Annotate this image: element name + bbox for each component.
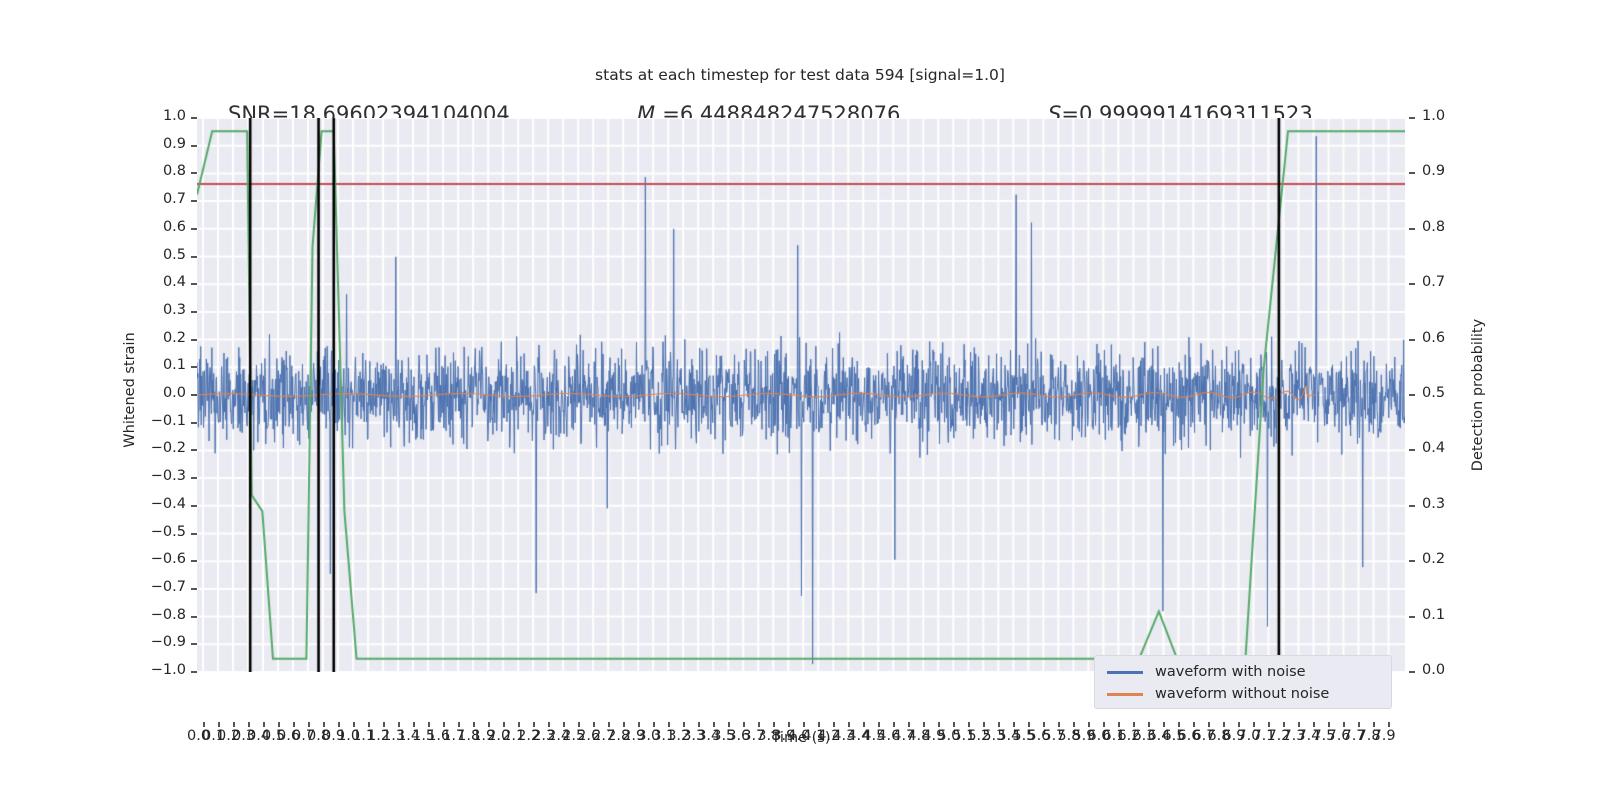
x-tick-mark bbox=[353, 722, 355, 727]
x-tick-mark bbox=[503, 722, 505, 727]
x-tick-mark bbox=[533, 722, 535, 727]
x-tick-mark bbox=[608, 722, 610, 727]
x-tick-mark bbox=[773, 722, 775, 727]
y-tick-left: −0.1 bbox=[128, 413, 186, 429]
y-tick-right: 0.6 bbox=[1422, 330, 1480, 346]
x-tick-mark bbox=[1043, 722, 1045, 727]
y-tick-mark-right bbox=[1409, 117, 1415, 119]
y-tick-left: −0.4 bbox=[128, 496, 186, 512]
x-tick-mark bbox=[1328, 722, 1330, 727]
x-tick-mark bbox=[1343, 722, 1345, 727]
y-tick-right: 1.0 bbox=[1422, 108, 1480, 124]
x-tick-mark bbox=[668, 722, 670, 727]
x-tick-mark bbox=[383, 722, 385, 727]
y-tick-left: −0.2 bbox=[128, 440, 186, 456]
y-tick-mark-left bbox=[191, 200, 197, 202]
y-tick-mark-left bbox=[191, 588, 197, 590]
y-tick-mark-left bbox=[191, 533, 197, 535]
legend-swatch-without-noise bbox=[1107, 693, 1143, 696]
x-tick-mark bbox=[953, 722, 955, 727]
y-tick-right: 0.0 bbox=[1422, 662, 1480, 678]
x-tick-mark bbox=[563, 722, 565, 727]
x-tick-mark bbox=[413, 722, 415, 727]
y-tick-right: 0.9 bbox=[1422, 163, 1480, 179]
y-tick-mark-right bbox=[1409, 505, 1415, 507]
x-tick-label: 7.9 bbox=[1372, 728, 1395, 744]
y-tick-mark-left bbox=[191, 172, 197, 174]
y-tick-right: 0.5 bbox=[1422, 385, 1480, 401]
x-tick-mark bbox=[788, 722, 790, 727]
y-tick-mark-left bbox=[191, 643, 197, 645]
y-tick-mark-left bbox=[191, 422, 197, 424]
y-tick-left: 0.4 bbox=[128, 274, 186, 290]
x-tick-mark bbox=[1388, 722, 1390, 727]
y-tick-mark-left bbox=[191, 366, 197, 368]
x-tick-mark bbox=[1133, 722, 1135, 727]
x-tick-mark bbox=[1163, 722, 1165, 727]
x-tick-mark bbox=[323, 722, 325, 727]
x-tick-mark bbox=[1103, 722, 1105, 727]
x-tick-mark bbox=[683, 722, 685, 727]
x-tick-mark bbox=[443, 722, 445, 727]
x-tick-mark bbox=[923, 722, 925, 727]
x-tick-mark bbox=[713, 722, 715, 727]
y-tick-mark-left bbox=[191, 394, 197, 396]
y-tick-mark-left bbox=[191, 283, 197, 285]
x-tick-mark bbox=[548, 722, 550, 727]
x-tick-mark bbox=[1058, 722, 1060, 727]
y-tick-left: 0.5 bbox=[128, 247, 186, 263]
y-tick-left: 0.2 bbox=[128, 330, 186, 346]
x-tick-mark bbox=[1013, 722, 1015, 727]
y-tick-left: 0.1 bbox=[128, 357, 186, 373]
x-tick-mark bbox=[278, 722, 280, 727]
y-tick-left: 1.0 bbox=[128, 108, 186, 124]
y-tick-mark-right bbox=[1409, 616, 1415, 618]
y-tick-mark-right bbox=[1409, 671, 1415, 673]
x-tick-mark bbox=[1298, 722, 1300, 727]
x-tick-mark bbox=[1358, 722, 1360, 727]
x-tick-mark bbox=[878, 722, 880, 727]
y-tick-mark-left bbox=[191, 477, 197, 479]
y-tick-mark-left bbox=[191, 560, 197, 562]
x-tick-mark bbox=[833, 722, 835, 727]
y-tick-right: 0.1 bbox=[1422, 607, 1480, 623]
y-tick-mark-right bbox=[1409, 283, 1415, 285]
x-tick-mark bbox=[1283, 722, 1285, 727]
x-tick-mark bbox=[428, 722, 430, 727]
x-tick-mark bbox=[473, 722, 475, 727]
y-tick-mark-left bbox=[191, 505, 197, 507]
x-tick-mark bbox=[248, 722, 250, 727]
y-tick-left: −0.3 bbox=[128, 468, 186, 484]
x-tick-mark bbox=[578, 722, 580, 727]
x-tick-mark bbox=[638, 722, 640, 727]
y-tick-mark-left bbox=[191, 117, 197, 119]
x-tick-mark bbox=[488, 722, 490, 727]
x-tick-mark bbox=[293, 722, 295, 727]
x-tick-mark bbox=[803, 722, 805, 727]
figure-canvas: stats at each timestep for test data 594… bbox=[0, 0, 1600, 800]
y-tick-right: 0.3 bbox=[1422, 496, 1480, 512]
y-tick-mark-right bbox=[1409, 339, 1415, 341]
y-tick-mark-right bbox=[1409, 560, 1415, 562]
y-tick-left: 0.0 bbox=[128, 385, 186, 401]
x-tick-mark bbox=[623, 722, 625, 727]
y-tick-mark-left bbox=[191, 616, 197, 618]
x-tick-mark bbox=[653, 722, 655, 727]
y-tick-left: 0.3 bbox=[128, 302, 186, 318]
y-tick-mark-left bbox=[191, 449, 197, 451]
x-tick-mark bbox=[863, 722, 865, 727]
plot-area bbox=[197, 118, 1405, 672]
y-tick-mark-left bbox=[191, 671, 197, 673]
x-tick-mark bbox=[818, 722, 820, 727]
y-tick-mark-right bbox=[1409, 394, 1415, 396]
x-tick-mark bbox=[938, 722, 940, 727]
x-tick-mark bbox=[1223, 722, 1225, 727]
x-tick-mark bbox=[758, 722, 760, 727]
y-tick-mark-left bbox=[191, 339, 197, 341]
x-tick-mark bbox=[743, 722, 745, 727]
x-tick-mark bbox=[1028, 722, 1030, 727]
y-tick-right: 0.7 bbox=[1422, 274, 1480, 290]
x-tick-mark bbox=[983, 722, 985, 727]
y-tick-mark-left bbox=[191, 145, 197, 147]
x-tick-mark bbox=[728, 722, 730, 727]
y-tick-right: 0.8 bbox=[1422, 219, 1480, 235]
page-title: stats at each timestep for test data 594… bbox=[0, 66, 1600, 84]
y-tick-left: −1.0 bbox=[128, 662, 186, 678]
x-tick-mark bbox=[908, 722, 910, 727]
x-tick-mark bbox=[1178, 722, 1180, 727]
x-tick-mark bbox=[398, 722, 400, 727]
y-tick-left: −0.5 bbox=[128, 524, 186, 540]
x-tick-mark bbox=[218, 722, 220, 727]
x-tick-mark bbox=[848, 722, 850, 727]
legend-label-without-noise: waveform without noise bbox=[1155, 683, 1329, 705]
waveform-canvas bbox=[197, 118, 1405, 672]
y-tick-left: 0.8 bbox=[128, 163, 186, 179]
x-tick-mark bbox=[968, 722, 970, 727]
x-tick-mark bbox=[1373, 722, 1375, 727]
x-tick-mark bbox=[893, 722, 895, 727]
y-tick-mark-right bbox=[1409, 228, 1415, 230]
y-tick-left: −0.7 bbox=[128, 579, 186, 595]
x-tick-mark bbox=[1268, 722, 1270, 727]
y-tick-left: 0.9 bbox=[128, 136, 186, 152]
legend[interactable]: waveform with noise waveform without noi… bbox=[1094, 655, 1392, 709]
x-tick-mark bbox=[518, 722, 520, 727]
y-tick-left: −0.6 bbox=[128, 551, 186, 567]
x-tick-mark bbox=[1253, 722, 1255, 727]
x-tick-mark bbox=[698, 722, 700, 727]
x-tick-mark bbox=[1193, 722, 1195, 727]
y-tick-left: 0.7 bbox=[128, 191, 186, 207]
x-tick-mark bbox=[998, 722, 1000, 727]
x-tick-mark bbox=[338, 722, 340, 727]
x-tick-mark bbox=[593, 722, 595, 727]
x-tick-mark bbox=[1208, 722, 1210, 727]
x-tick-mark bbox=[368, 722, 370, 727]
x-tick-mark bbox=[1148, 722, 1150, 727]
x-tick-mark bbox=[1238, 722, 1240, 727]
y-tick-right: 0.4 bbox=[1422, 440, 1480, 456]
y-tick-left: −0.8 bbox=[128, 607, 186, 623]
y-tick-mark-left bbox=[191, 311, 197, 313]
x-tick-mark bbox=[1088, 722, 1090, 727]
y-tick-right: 0.2 bbox=[1422, 551, 1480, 567]
x-tick-mark bbox=[308, 722, 310, 727]
y-tick-left: 0.6 bbox=[128, 219, 186, 235]
x-tick-mark bbox=[458, 722, 460, 727]
x-tick-mark bbox=[1118, 722, 1120, 727]
legend-swatch-with-noise bbox=[1107, 671, 1143, 674]
y-tick-left: −0.9 bbox=[128, 634, 186, 650]
x-tick-mark bbox=[1073, 722, 1075, 727]
x-tick-mark bbox=[1313, 722, 1315, 727]
x-tick-mark bbox=[233, 722, 235, 727]
y-tick-mark-left bbox=[191, 228, 197, 230]
y-tick-mark-left bbox=[191, 256, 197, 258]
x-tick-mark bbox=[203, 722, 205, 727]
y-tick-mark-right bbox=[1409, 449, 1415, 451]
y-tick-mark-right bbox=[1409, 172, 1415, 174]
legend-label-with-noise: waveform with noise bbox=[1155, 661, 1306, 683]
x-tick-mark bbox=[263, 722, 265, 727]
